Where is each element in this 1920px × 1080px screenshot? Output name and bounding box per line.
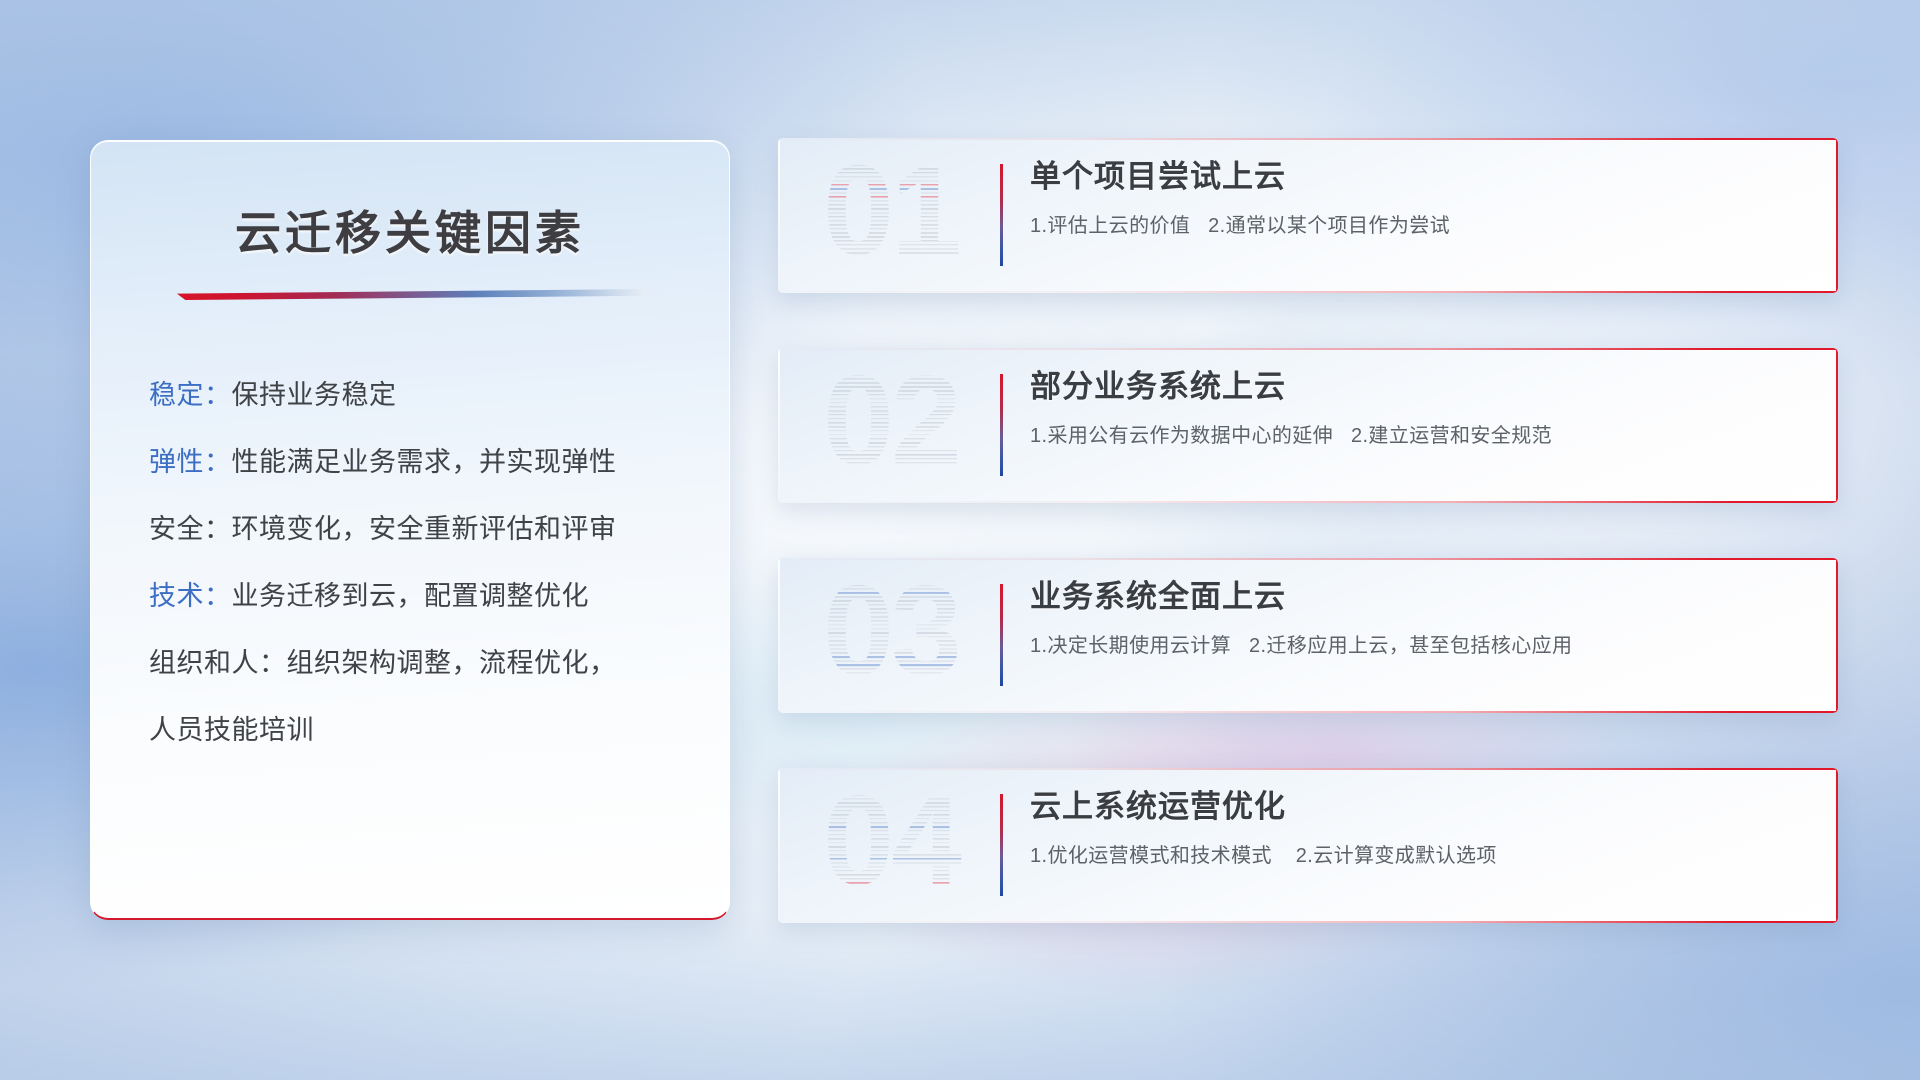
card-bottom-accent-border (778, 921, 1838, 923)
key-factors-list: 稳定：保持业务稳定弹性：性能满足业务需求，并实现弹性安全：环境变化，安全重新评估… (149, 382, 729, 744)
card-title: 云上系统运营优化 (1030, 788, 1814, 827)
key-factor-line: 人员技能培训 (149, 717, 729, 744)
key-factor-text: 环境变化，安全重新评估和评审 (232, 514, 617, 544)
card-title: 部分业务系统上云 (1030, 368, 1814, 407)
card-divider-bar (1000, 164, 1003, 266)
card-right-accent-border (1836, 348, 1839, 503)
card-right-accent-border (1836, 768, 1839, 923)
card-divider-bar (1000, 584, 1003, 686)
key-factor-label: 弹性： (149, 447, 232, 477)
stage-number-watermark: 02 (796, 364, 986, 489)
stage-number-watermark: 03 (796, 574, 986, 699)
stage-card[interactable]: 02部分业务系统上云1.采用公有云作为数据中心的延伸 2.建立运营和安全规范 (778, 348, 1838, 503)
stage-cards-list: 01单个项目尝试上云1.评估上云的价值 2.通常以某个项目作为尝试02部分业务系… (778, 138, 1838, 978)
key-factor-line: 弹性：性能满足业务需求，并实现弹性 (149, 449, 729, 476)
key-factors-panel: 云迁移关键因素 稳定：保持业务稳定弹性：性能满足业务需求，并实现弹性安全：环境变… (90, 140, 730, 920)
card-subtitle: 1.优化运营模式和技术模式 2.云计算变成默认选项 (1030, 839, 1814, 868)
title-underline-accent (175, 289, 645, 300)
key-factor-text: 性能满足业务需求，并实现弹性 (232, 447, 617, 477)
card-text-block: 单个项目尝试上云1.评估上云的价值 2.通常以某个项目作为尝试 (1030, 158, 1814, 238)
card-top-accent-border (778, 348, 1838, 350)
card-left-highlight-border (778, 138, 780, 293)
card-title: 单个项目尝试上云 (1030, 158, 1814, 197)
key-factor-label: 技术： (149, 581, 232, 611)
card-subtitle: 1.评估上云的价值 2.通常以某个项目作为尝试 (1030, 209, 1814, 238)
key-factor-text: 人员技能培训 (149, 715, 314, 745)
card-bottom-accent-border (778, 291, 1838, 293)
key-factor-text: 组织架构调整，流程优化， (287, 648, 617, 678)
key-factor-text: 业务迁移到云，配置调整优化 (232, 581, 590, 611)
key-factor-line: 稳定：保持业务稳定 (149, 382, 729, 409)
card-right-accent-border (1836, 138, 1839, 293)
title-underline-bar (175, 289, 645, 300)
card-title: 业务系统全面上云 (1030, 578, 1814, 617)
card-subtitle: 1.决定长期使用云计算 2.迁移应用上云，甚至包括核心应用 (1030, 629, 1814, 658)
card-subtitle: 1.采用公有云作为数据中心的延伸 2.建立运营和安全规范 (1030, 419, 1814, 448)
card-divider-bar (1000, 794, 1003, 896)
card-divider-bar (1000, 374, 1003, 476)
stage-card[interactable]: 03业务系统全面上云1.决定长期使用云计算 2.迁移应用上云，甚至包括核心应用 (778, 558, 1838, 713)
card-bottom-accent-border (778, 711, 1838, 713)
card-left-highlight-border (778, 348, 780, 503)
card-top-accent-border (778, 138, 1838, 140)
key-factor-line: 组织和人：组织架构调整，流程优化， (149, 650, 729, 677)
key-factor-text: 保持业务稳定 (232, 380, 397, 410)
stage-card[interactable]: 01单个项目尝试上云1.评估上云的价值 2.通常以某个项目作为尝试 (778, 138, 1838, 293)
stage-number-watermark: 04 (796, 784, 986, 909)
key-factor-line: 技术：业务迁移到云，配置调整优化 (149, 583, 729, 610)
card-left-highlight-border (778, 558, 780, 713)
card-right-accent-border (1836, 558, 1839, 713)
card-top-accent-border (778, 768, 1838, 770)
key-factor-line: 安全：环境变化，安全重新评估和评审 (149, 516, 729, 543)
card-text-block: 云上系统运营优化1.优化运营模式和技术模式 2.云计算变成默认选项 (1030, 788, 1814, 868)
key-factor-label: 组织和人： (149, 648, 287, 678)
page-title: 云迁移关键因素 (91, 197, 729, 263)
card-top-accent-border (778, 558, 1838, 560)
stage-number-watermark: 01 (796, 154, 986, 279)
key-factor-label: 稳定： (149, 380, 232, 410)
card-bottom-accent-border (778, 501, 1838, 503)
key-factor-label: 安全： (149, 514, 232, 544)
stage-card[interactable]: 04云上系统运营优化1.优化运营模式和技术模式 2.云计算变成默认选项 (778, 768, 1838, 923)
card-left-highlight-border (778, 768, 780, 923)
card-text-block: 部分业务系统上云1.采用公有云作为数据中心的延伸 2.建立运营和安全规范 (1030, 368, 1814, 448)
card-text-block: 业务系统全面上云1.决定长期使用云计算 2.迁移应用上云，甚至包括核心应用 (1030, 578, 1814, 658)
